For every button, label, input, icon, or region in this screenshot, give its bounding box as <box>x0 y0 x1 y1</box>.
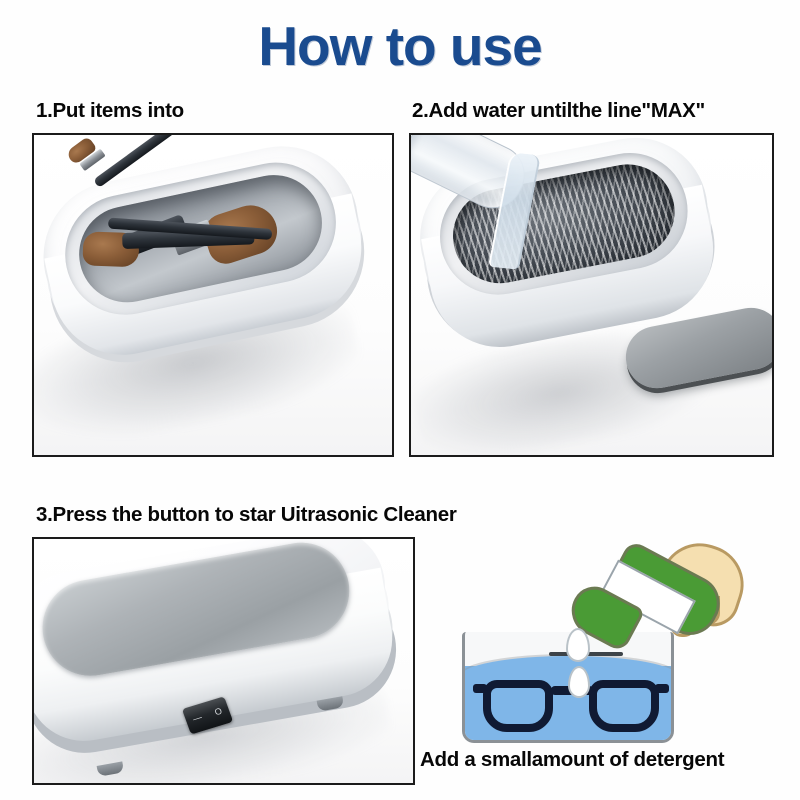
step-3-scene: — O <box>34 539 413 783</box>
detergent-drop-upper <box>566 628 590 662</box>
glasses-temple-right <box>655 684 669 693</box>
lens-left <box>483 680 553 732</box>
step-2-photo-panel <box>409 133 774 457</box>
step-1-photo-panel <box>32 133 394 457</box>
step-1-label: 1.Put items into <box>36 99 184 123</box>
switch-off-mark: O <box>214 707 224 718</box>
step-3-label: 3.Press the button to star Uitrasonic Cl… <box>36 503 457 527</box>
add-detergent-illustration <box>448 540 768 746</box>
step-3-photo-panel: — O <box>32 537 415 785</box>
lens-right <box>589 680 659 732</box>
step-2-scene <box>411 135 772 455</box>
detergent-drop-lower <box>568 666 590 698</box>
step-2-label: 2.Add water untilthe line"MAX" <box>412 99 705 123</box>
how-to-use-infographic: How to use 1.Put items into <box>0 0 800 800</box>
page-title: How to use <box>0 14 800 78</box>
switch-on-mark: — <box>192 713 204 724</box>
detergent-caption: Add a smallamount of detergent <box>420 748 724 772</box>
water-surface-wave <box>462 656 674 676</box>
glasses-temple-left <box>473 684 487 693</box>
step-1-scene <box>34 135 392 455</box>
